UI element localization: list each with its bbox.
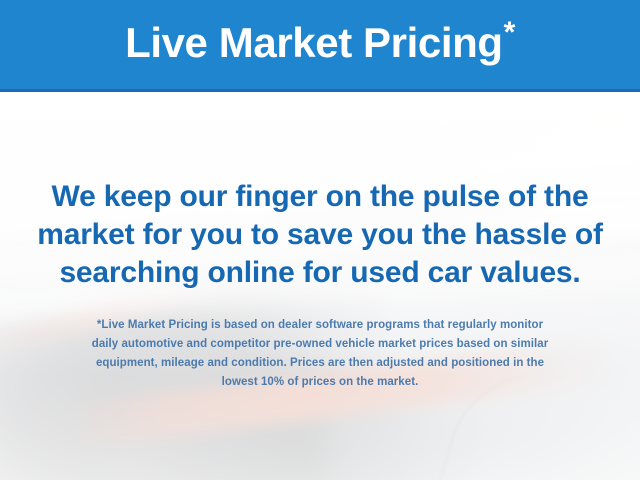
- headline-line-3: searching online for used car values.: [0, 254, 640, 292]
- fineprint-disclaimer: *Live Market Pricing is based on dealer …: [20, 316, 620, 392]
- banner-title-text: Live Market Pricing: [125, 19, 503, 66]
- header-banner: Live Market Pricing*: [0, 0, 640, 92]
- fineprint-line-4: lowest 10% of prices on the market.: [20, 373, 620, 392]
- fineprint-line-2: daily automotive and competitor pre-owne…: [20, 335, 620, 354]
- headline-line-1: We keep our finger on the pulse of the: [0, 178, 640, 216]
- headline-block: We keep our finger on the pulse of the m…: [0, 178, 640, 292]
- fineprint-line-3: equipment, mileage and condition. Prices…: [20, 354, 620, 373]
- live-market-pricing-promo-card: Live Market Pricing* We keep our finger …: [0, 0, 640, 480]
- fineprint-line-1: *Live Market Pricing is based on dealer …: [20, 316, 620, 335]
- banner-title: Live Market Pricing*: [125, 22, 515, 68]
- banner-title-asterisk: *: [504, 16, 515, 49]
- headline-line-2: market for you to save you the hassle of: [0, 216, 640, 254]
